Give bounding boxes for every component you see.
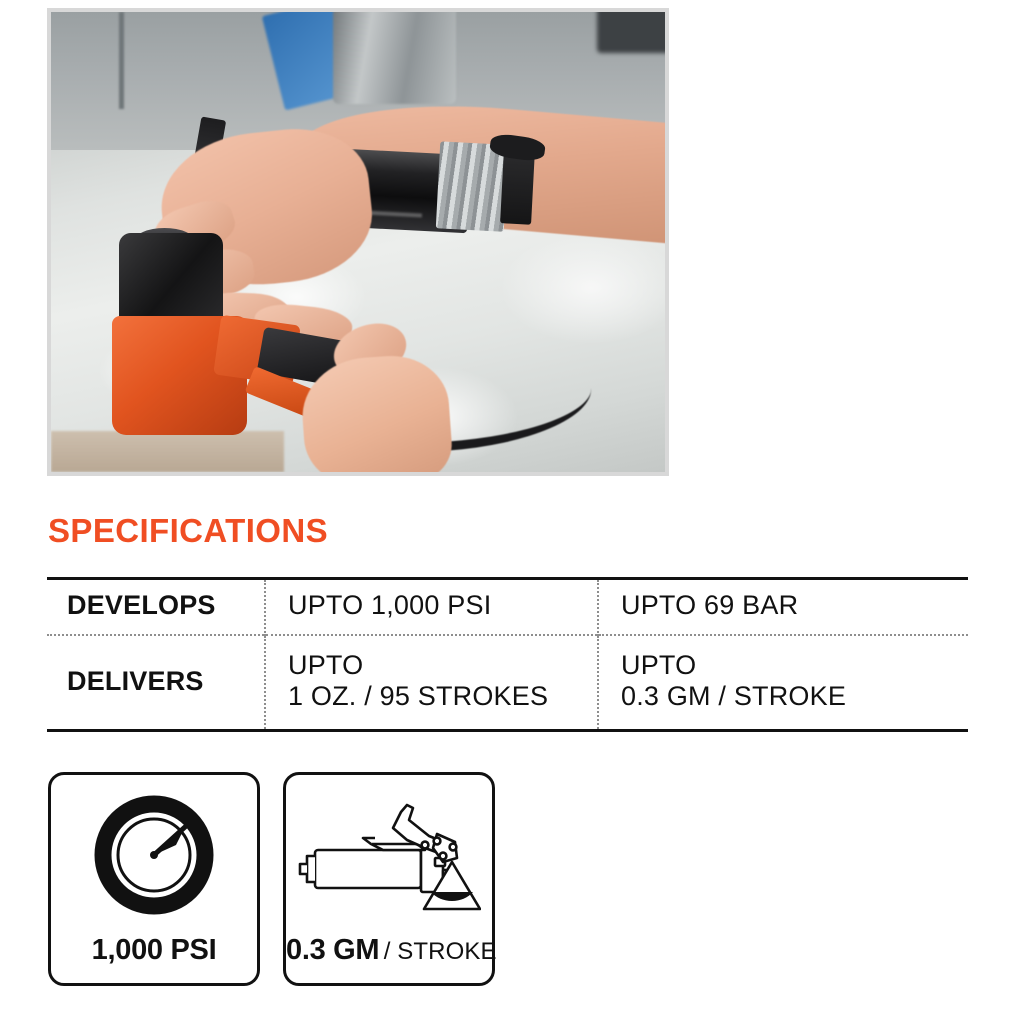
specifications-table: DEVELOPS UPTO 1,000 PSI UPTO 69 BAR DELI… bbox=[47, 577, 968, 732]
table-edge bbox=[51, 431, 284, 472]
spec-value-line: 1 OZ. / 95 STROKES bbox=[288, 681, 597, 712]
badge-artwork bbox=[51, 785, 257, 925]
spec-value-line: UPTO 69 BAR bbox=[621, 590, 968, 621]
pressure-gauge-icon bbox=[92, 793, 216, 917]
spec-value-line: UPTO bbox=[288, 650, 597, 681]
grease-gun-drop-icon bbox=[297, 792, 481, 918]
badge-caption: 1,000 PSI bbox=[51, 934, 257, 967]
spec-label: DEVELOPS bbox=[47, 579, 265, 635]
badge-artwork bbox=[286, 785, 492, 925]
badge-output: 0.3 GM / STROKE bbox=[283, 772, 495, 986]
feature-badges: 1,000 PSI bbox=[48, 772, 495, 986]
background-dark-object bbox=[597, 12, 665, 53]
spec-value-imperial: UPTO 1,000 PSI bbox=[265, 579, 598, 635]
spec-label: DELIVERS bbox=[47, 635, 265, 731]
wall-edge bbox=[119, 12, 124, 109]
specifications-heading: SPECIFICATIONS bbox=[48, 512, 328, 550]
grease-gun-chrome-collar bbox=[436, 141, 508, 232]
spec-value-line: UPTO bbox=[621, 650, 968, 681]
badge-caption: 0.3 GM / STROKE bbox=[286, 934, 492, 967]
badge-pressure: 1,000 PSI bbox=[48, 772, 260, 986]
table-row: DEVELOPS UPTO 1,000 PSI UPTO 69 BAR bbox=[47, 579, 968, 635]
spec-value-imperial: UPTO 1 OZ. / 95 STROKES bbox=[265, 635, 598, 731]
product-photo: GROZ bbox=[47, 8, 669, 476]
badge-caption-light: / STROKE bbox=[384, 938, 497, 965]
spec-value-metric: UPTO 0.3 GM / STROKE bbox=[598, 635, 968, 731]
spec-value-metric: UPTO 69 BAR bbox=[598, 579, 968, 635]
badge-caption-strong: 0.3 GM bbox=[286, 934, 379, 966]
product-photo-scene: GROZ bbox=[51, 12, 665, 472]
background-canister bbox=[333, 12, 456, 104]
grease-gun-plunger bbox=[500, 149, 534, 224]
table-row: DELIVERS UPTO 1 OZ. / 95 STROKES UPTO 0.… bbox=[47, 635, 968, 731]
spec-value-line: 0.3 GM / STROKE bbox=[621, 681, 968, 712]
badge-caption-strong: 1,000 PSI bbox=[92, 934, 217, 966]
spec-value-line: UPTO 1,000 PSI bbox=[288, 590, 597, 621]
